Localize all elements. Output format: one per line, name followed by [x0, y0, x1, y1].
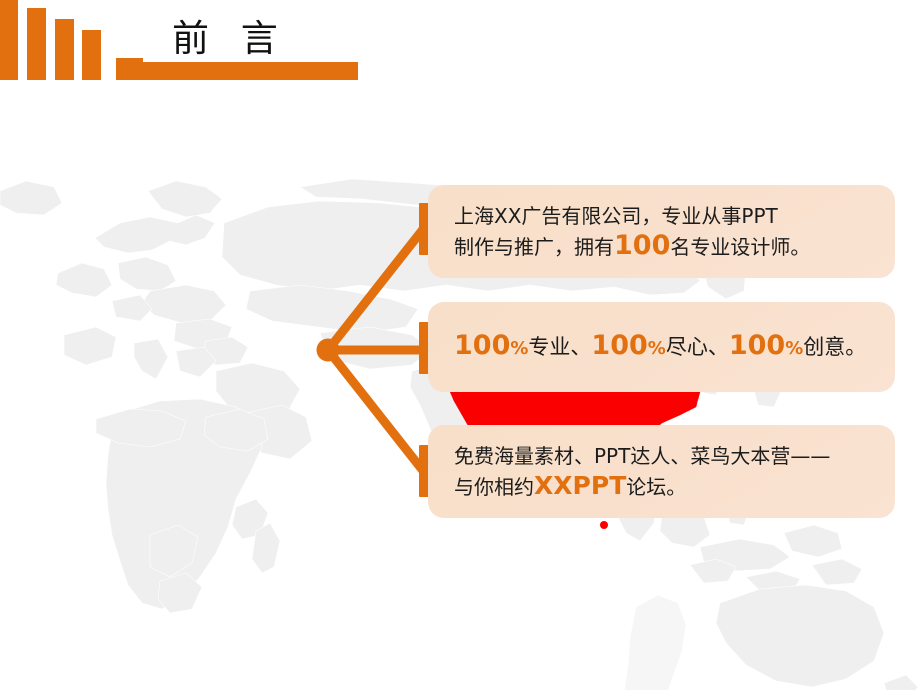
callout-1-highlight-number: 100 — [614, 230, 670, 261]
page-title: 前 言 — [172, 14, 392, 64]
callout-3-line2-suffix: 论坛。 — [626, 475, 686, 499]
callout-3-highlight-brand: XXPPT — [534, 471, 626, 500]
callout-2-text-1: 专业、 — [528, 335, 591, 359]
callout-3-line-1: 免费海量素材、PPT达人、菜鸟大本营—— — [454, 441, 873, 471]
header-bar-4 — [82, 30, 101, 80]
callout-2-percent-1: % — [510, 338, 528, 359]
callout-3-line-2: 与你相约XXPPT论坛。 — [454, 471, 873, 502]
slide-canvas: 前 言 上海XX广告有限公司，专业从事PPT 制作与推广，拥有100名专业设计师… — [0, 0, 920, 690]
callout-2-number-1: 100 — [454, 330, 510, 361]
callout-2-number-3: 100 — [729, 330, 785, 361]
callout-box-1[interactable]: 上海XX广告有限公司，专业从事PPT 制作与推广，拥有100名专业设计师。 — [428, 185, 895, 278]
header-underline — [116, 62, 358, 80]
callout-1-line-2: 制作与推广，拥有100名专业设计师。 — [454, 231, 873, 262]
callout-2-text-3: 创意。 — [803, 335, 866, 359]
callout-2-percent-3: % — [785, 338, 803, 359]
callout-box-2[interactable]: 100%专业、100%尽心、100%创意。 — [428, 302, 895, 392]
callout-2-percent-2: % — [648, 338, 666, 359]
callout-box-3[interactable]: 免费海量素材、PPT达人、菜鸟大本营—— 与你相约XXPPT论坛。 — [428, 425, 895, 518]
callout-2-number-2: 100 — [591, 330, 647, 361]
callout-2-line-1: 100%专业、100%尽心、100%创意。 — [454, 329, 873, 366]
callout-1-line-1: 上海XX广告有限公司，专业从事PPT — [454, 201, 873, 231]
header-bar-1 — [0, 0, 18, 80]
header-bar-2 — [27, 8, 46, 80]
callout-2-text-2: 尽心、 — [666, 335, 729, 359]
callout-1-line2-suffix: 名专业设计师。 — [670, 235, 810, 259]
header-bar-3 — [55, 19, 74, 80]
callout-3-line2-prefix: 与你相约 — [454, 475, 534, 499]
callout-1-line2-prefix: 制作与推广，拥有 — [454, 235, 614, 259]
